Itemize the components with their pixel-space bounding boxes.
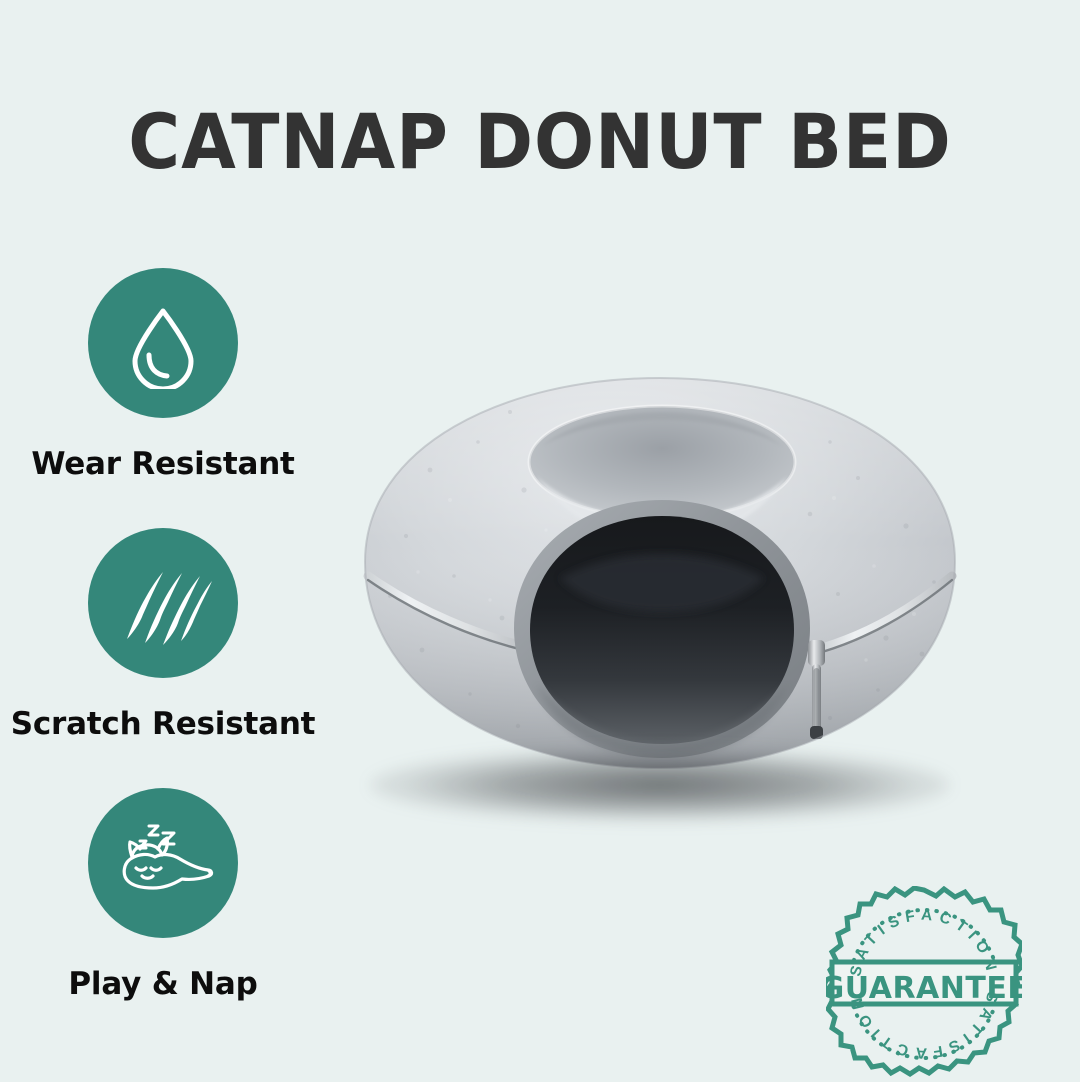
feature-badge-circle bbox=[88, 528, 238, 678]
feature-label: Play & Nap bbox=[0, 966, 326, 1002]
product-drop-shadow bbox=[370, 748, 950, 822]
feature-badge-circle bbox=[88, 268, 238, 418]
product-image bbox=[310, 350, 1010, 870]
feature-label: Wear Resistant bbox=[0, 446, 326, 482]
claw-scratch-icon bbox=[113, 553, 213, 653]
page-title: CATNAP DONUT BED bbox=[38, 104, 1042, 180]
feature-item-play-and-nap: Play & Nap bbox=[63, 788, 263, 938]
seal-center-text: GUARANTEE bbox=[826, 971, 1022, 1006]
feature-badge-circle bbox=[88, 788, 238, 938]
water-drop-icon bbox=[117, 297, 209, 389]
poster-canvas: CATNAP DONUT BED Wear Resistant bbox=[0, 0, 1080, 1080]
sleeping-cat-icon bbox=[108, 813, 218, 913]
guarantee-seal: SATISFACTION SATISFACTION GUARANTEE bbox=[826, 886, 1022, 1082]
feature-item-wear-resistant: Wear Resistant bbox=[63, 268, 263, 418]
feature-item-scratch-resistant: Scratch Resistant bbox=[63, 528, 263, 678]
feature-label: Scratch Resistant bbox=[0, 706, 326, 742]
